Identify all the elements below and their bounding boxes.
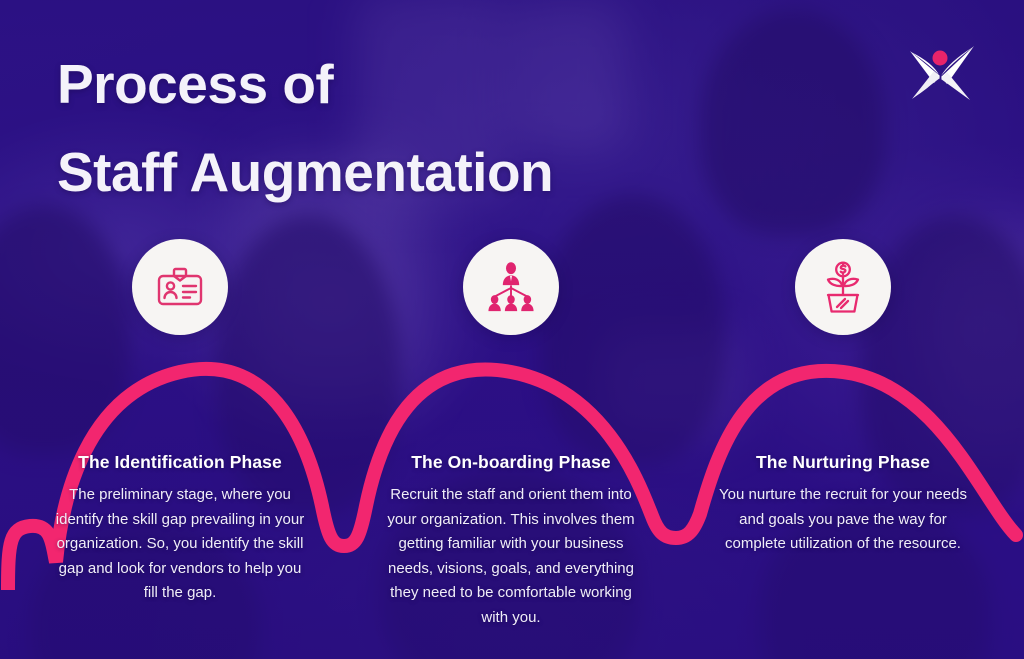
x-person-logo[interactable] [903,36,977,104]
step-1-body: The preliminary stage, where you identif… [55,483,305,606]
page-title: Process of Staff Augmentation [57,40,777,216]
step-2-icon-circle[interactable] [463,239,559,335]
step-1-text: The Identification Phase The preliminary… [55,452,305,606]
step-3-body: You nurture the recruit for your needs a… [718,483,968,557]
page-title-line-1: Process of [57,40,777,128]
infographic-slide: Process of Staff Augmentation [0,0,1024,659]
id-badge-icon [154,261,206,313]
step-3-heading: The Nurturing Phase [718,452,968,473]
step-3-icon-circle[interactable] [795,239,891,335]
org-hierarchy-icon [484,260,538,314]
page-title-line-2: Staff Augmentation [57,128,777,216]
step-3-text: The Nurturing Phase You nurture the recr… [718,452,968,557]
step-1-icon-circle[interactable] [132,239,228,335]
step-2-heading: The On-boarding Phase [386,452,636,473]
step-1-heading: The Identification Phase [55,452,305,473]
money-plant-growth-icon [817,260,869,314]
logo-head-dot [933,51,948,66]
step-2-text: The On-boarding Phase Recruit the staff … [386,452,636,630]
step-2-body: Recruit the staff and orient them into y… [386,483,636,630]
